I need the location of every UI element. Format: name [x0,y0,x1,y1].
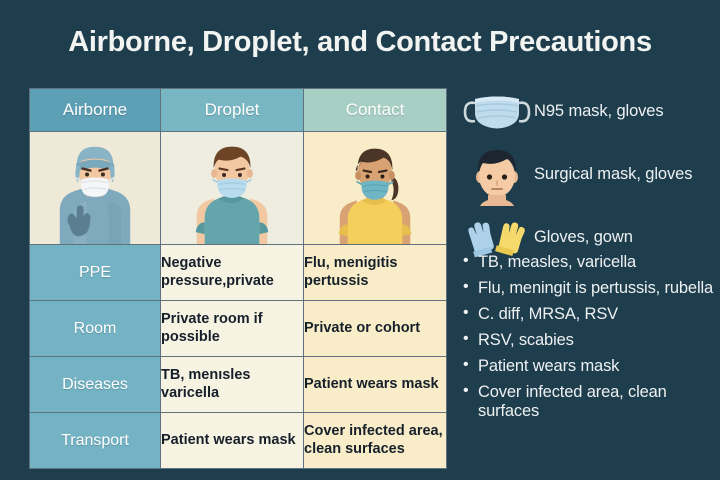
page-title: Airborne, Droplet, and Contact Precautio… [0,26,720,59]
list-item: C. diff, MRSA, RSV [462,305,718,324]
legend-label-gloves: Gloves, gown [534,228,633,247]
cell-diseases-droplet: TB, menısles varicella [161,357,304,413]
table-row: Diseases TB, menısles varicella Patient … [30,357,447,413]
row-label-ppe: PPE [30,245,161,301]
table-header-row: Airborne Droplet Contact [30,89,447,132]
table-illustration-row [30,132,447,245]
list-item: Flu, meningit is pertussis, rubella [462,279,718,298]
illustration-person-surgical-mask [161,132,304,245]
legend-item-surgical: Surgical mask, gloves [460,144,716,206]
list-item: TB, measles, varicella [462,253,718,272]
cell-transport-contact: Cover infected area, clean surfaces [304,413,447,469]
face-icon [460,144,534,206]
row-label-transport: Transport [30,413,161,469]
ppe-legend: N95 mask, gloves [460,88,716,270]
column-header-contact: Contact [304,89,447,132]
cell-transport-droplet: Patient wears mask [161,413,304,469]
cell-ppe-contact: Flu, menigitis pertussis [304,245,447,301]
list-item: Cover infected area, clean surfaces [462,383,718,421]
table-row: PPE Negative pressure,private Flu, menig… [30,245,447,301]
list-item: Patient wears mask [462,357,718,376]
legend-label-n95: N95 mask, gloves [534,102,664,121]
table-row: Transport Patient wears mask Cover infec… [30,413,447,469]
precaution-bullet-list: TB, measles, varicella Flu, meningit is … [462,253,718,428]
cell-diseases-contact: Patient wears mask [304,357,447,413]
column-header-droplet: Droplet [161,89,304,132]
row-label-room: Room [30,301,161,357]
legend-label-surgical: Surgical mask, gloves [534,165,692,184]
column-header-airborne: Airborne [30,89,161,132]
illustration-person-yellow-shirt-mask [304,132,447,245]
precautions-table: Airborne Droplet Contact [29,88,447,469]
legend-item-n95: N95 mask, gloves [460,88,716,136]
cell-room-droplet: Private room if possible [161,301,304,357]
cell-room-contact: Private or cohort [304,301,447,357]
table-row: Room Private room if possible Private or… [30,301,447,357]
cell-ppe-droplet: Negative pressure,private [161,245,304,301]
list-item: RSV, scabies [462,331,718,350]
row-label-diseases: Diseases [30,357,161,413]
illustration-healthcare-worker-n95 [30,132,161,245]
surgical-mask-icon [460,90,534,134]
